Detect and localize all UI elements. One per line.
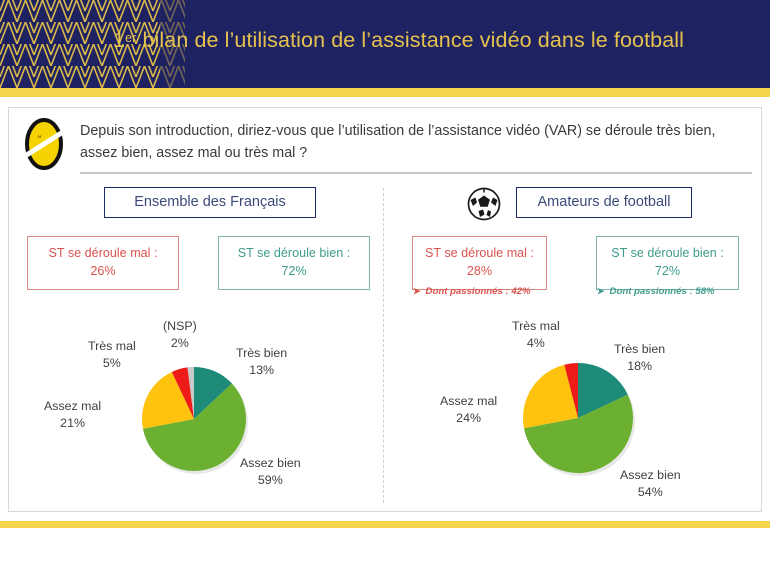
column-title-ensemble-francais[interactable]: Ensemble des Français xyxy=(104,187,316,218)
question-divider xyxy=(80,172,752,174)
pie-label-tres-mal-right: Très mal4% xyxy=(512,318,560,351)
pie-label-category: Assez bien xyxy=(240,456,301,470)
pie-label-category: Très bien xyxy=(236,346,287,360)
pie-label-tres-bien-left: Très bien13% xyxy=(236,345,287,378)
stat-box-left-bad: ST se déroule mal : 26% xyxy=(27,236,179,290)
pie-label-value: 2% xyxy=(171,336,189,350)
pie-label-category: Assez mal xyxy=(440,394,497,408)
slide: 1er bilan de l’utilisation de l’assistan… xyxy=(0,0,770,576)
title-text: bilan de l’utilisation de l’assistance v… xyxy=(136,28,684,52)
title-number: 1 xyxy=(113,28,125,52)
pie-label-category: (NSP) xyxy=(163,319,197,333)
pie-label-value: 18% xyxy=(627,359,652,373)
arrow-bullet-icon: ➤ xyxy=(413,286,421,296)
odoxa-logo-icon: “ xyxy=(22,116,66,172)
stat-value: 72% xyxy=(223,262,365,280)
sub-note-good-passionnes: ➤Dont passionnés : 58% xyxy=(597,286,715,297)
sub-note-text: Dont passionnés : 58% xyxy=(610,286,715,297)
stat-label: ST se déroule bien : xyxy=(611,246,723,260)
pie-label-value: 59% xyxy=(258,473,283,487)
pie-chart-ensemble-francais xyxy=(110,318,360,498)
title-ordinal-suffix: er xyxy=(125,31,136,45)
sub-note-text: Dont passionnés : 42% xyxy=(426,286,531,297)
pie-label-category: Très mal xyxy=(512,319,560,333)
pie-label-assez-mal-right: Assez mal24% xyxy=(440,393,497,426)
pie-label-value: 21% xyxy=(60,416,85,430)
svg-text:“: “ xyxy=(38,134,41,144)
page-title: 1er bilan de l’utilisation de l’assistan… xyxy=(113,28,763,53)
pie-label-category: Très bien xyxy=(614,342,665,356)
slide-footer: ODOXA L’Opinion trenchée RTL Groupama xyxy=(0,528,770,576)
stat-label: ST se déroule bien : xyxy=(238,246,350,260)
footer-gold-bar xyxy=(0,521,770,528)
pie-label-value: 24% xyxy=(456,411,481,425)
sub-note-bad-passionnes: ➤Dont passionnés : 42% xyxy=(413,286,531,297)
pie-label-assez-bien-left: Assez bien59% xyxy=(240,455,301,488)
survey-question: Depuis son introduction, diriez-vous que… xyxy=(80,120,750,164)
pie-label-value: 54% xyxy=(638,485,663,499)
pie-label-assez-mal-left: Assez mal21% xyxy=(44,398,101,431)
stat-value: 72% xyxy=(601,262,734,280)
column-divider xyxy=(383,188,384,503)
arrow-bullet-icon: ➤ xyxy=(597,286,605,296)
stat-box-left-good: ST se déroule bien : 72% xyxy=(218,236,370,290)
pie-label-nsp-left: (NSP)2% xyxy=(163,318,197,351)
stat-value: 26% xyxy=(32,262,174,280)
stat-label: ST se déroule mal : xyxy=(49,246,158,260)
pie-label-value: 5% xyxy=(103,356,121,370)
pie-label-assez-bien-right: Assez bien54% xyxy=(620,467,681,500)
pie-label-tres-bien-right: Très bien18% xyxy=(614,341,665,374)
stat-label: ST se déroule mal : xyxy=(425,246,534,260)
pie-label-value: 4% xyxy=(527,336,545,350)
stat-box-right-bad: ST se déroule mal : 28% xyxy=(412,236,547,290)
pie-label-tres-mal-left: Très mal5% xyxy=(88,338,136,371)
stat-box-right-good: ST se déroule bien : 72% xyxy=(596,236,739,290)
pie-label-category: Très mal xyxy=(88,339,136,353)
pie-chart-svg xyxy=(110,318,360,498)
gold-divider-bar xyxy=(0,88,770,97)
pie-label-value: 13% xyxy=(249,363,274,377)
slide-header: 1er bilan de l’utilisation de l’assistan… xyxy=(0,0,770,88)
column-title-amateurs-football[interactable]: Amateurs de football xyxy=(516,187,692,218)
pie-label-category: Assez mal xyxy=(44,399,101,413)
football-icon xyxy=(466,186,502,222)
pie-label-category: Assez bien xyxy=(620,468,681,482)
stat-value: 28% xyxy=(417,262,542,280)
